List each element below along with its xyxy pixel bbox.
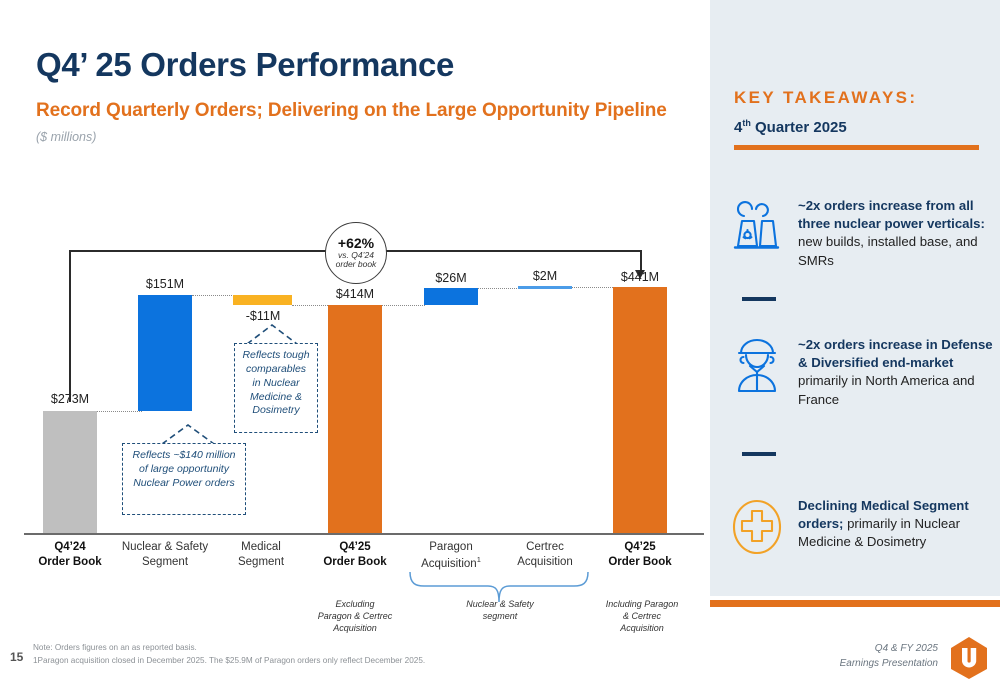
growth-arrow-vertical-left	[69, 250, 71, 402]
bar-paragon-acquisition[interactable]	[424, 288, 478, 305]
xaxis-label-5-line2: Acquisition	[498, 555, 592, 570]
footer-right-line-1: Q4 & FY 2025	[840, 641, 938, 656]
bar-certrec-acquisition[interactable]	[518, 286, 572, 289]
slide-root: Q4’ 25 Orders Performance Record Quarter…	[0, 0, 1000, 685]
xaxis-label-3: Q4’25 Order Book	[310, 540, 400, 570]
bar-q425-order-book-excluding[interactable]	[328, 305, 382, 533]
bar-label-q425-order-book-including: $441M	[603, 270, 677, 284]
key-takeaways-title: KEY TAKEAWAYS:	[734, 88, 918, 108]
xaxis-label-4-line1: Paragon	[404, 540, 498, 555]
bar-label-medical-segment: -$11M	[226, 309, 300, 323]
xaxis-label-6-line2: Order Book	[595, 555, 685, 570]
company-logo-icon	[948, 636, 990, 680]
bar-label-nuclear-safety-segment: $151M	[128, 277, 202, 291]
key-takeaways-rule	[734, 145, 979, 150]
key-takeaway-item-2: Declining Medical Segment orders; primar…	[726, 496, 1000, 558]
page-number: 15	[10, 650, 23, 664]
xaxis-sublabel-including: Including Paragon & Certrec Acquisition	[588, 598, 696, 634]
bar-q424-order-book[interactable]	[43, 411, 97, 533]
bar-medical-segment[interactable]	[233, 295, 292, 305]
key-takeaway-rest-1: primarily in North America and France	[798, 373, 975, 406]
xaxis-label-1-line1: Nuclear & Safety	[115, 540, 215, 555]
footer-presentation-label: Q4 & FY 2025 Earnings Presentation	[840, 641, 938, 671]
xaxis-label-4: Paragon Acquisition1	[404, 540, 498, 572]
key-takeaway-bold-0: ~2x orders increase from all three nucle…	[798, 198, 985, 231]
xaxis-label-4-line2: Acquisition	[421, 558, 477, 570]
connector-6	[572, 287, 613, 288]
xaxis-label-3-line2: Order Book	[310, 555, 400, 570]
connector-3	[292, 305, 328, 306]
footer-right-line-2: Earnings Presentation	[840, 656, 938, 671]
xaxis-label-6-line1: Q4’25	[595, 540, 685, 555]
waterfall-chart: +62% vs. Q4’24 order book $273M $151M -$…	[0, 0, 710, 685]
xaxis-label-2: Medical Segment	[218, 540, 304, 570]
xaxis-label-0: Q4’24 Order Book	[25, 540, 115, 570]
group-brace-label: Nuclear & Safety segment	[445, 598, 555, 622]
callout-medical-segment: Reflects tough comparables in Nuclear Me…	[234, 343, 318, 433]
xaxis-label-5: Certrec Acquisition	[498, 540, 592, 570]
group-brace-label-line1: Nuclear & Safety	[445, 598, 555, 610]
footnote-line-1: Note: Orders figures on an as reported b…	[33, 642, 425, 655]
xaxis-label-5-line1: Certrec	[498, 540, 592, 555]
key-takeaway-item-1: ~2x orders increase in Defense & Diversi…	[726, 335, 1000, 409]
connector-5	[478, 288, 519, 289]
growth-percent-badge: +62% vs. Q4’24 order book	[325, 222, 387, 284]
bar-label-paragon-acquisition: $26M	[414, 271, 488, 285]
xaxis-label-0-line2: Order Book	[25, 555, 115, 570]
xaxis-sublabel-excluding: Excluding Paragon & Certrec Acquisition	[300, 598, 410, 634]
key-takeaway-item-0: ~2x orders increase from all three nucle…	[726, 196, 1000, 270]
footnote-line-2: 1Paragon acquisition closed in December …	[33, 655, 425, 668]
key-takeaway-text-1: ~2x orders increase in Defense & Diversi…	[798, 335, 1000, 409]
growth-arrow-vertical-right	[640, 250, 642, 272]
connector-4	[382, 305, 425, 306]
worker-helmet-icon	[726, 335, 788, 397]
xaxis-label-1: Nuclear & Safety Segment	[115, 540, 215, 570]
group-brace-label-line2: segment	[445, 610, 555, 622]
xaxis-label-1-line2: Segment	[115, 555, 215, 570]
xaxis-label-0-line1: Q4’24	[25, 540, 115, 555]
bar-label-q425-order-book-excluding: $414M	[318, 287, 392, 301]
key-takeaway-text-0: ~2x orders increase from all three nucle…	[798, 196, 1000, 270]
chart-baseline	[24, 533, 704, 535]
xaxis-label-6: Q4’25 Order Book	[595, 540, 685, 570]
callout-nuclear-safety: Reflects ~$140 million of large opportun…	[122, 443, 246, 515]
kt-sub-post: Quarter 2025	[751, 119, 847, 136]
xaxis-label-4-footnote-marker: 1	[477, 555, 481, 564]
key-takeaway-rest-0: new builds, installed base, and SMRs	[798, 234, 978, 267]
key-takeaways-divider-0	[742, 297, 776, 301]
footnotes: Note: Orders figures on an as reported b…	[33, 642, 425, 667]
nuclear-plant-icon	[726, 196, 788, 258]
key-takeaway-bold-1: ~2x orders increase in Defense & Diversi…	[798, 337, 993, 370]
panel-bottom-accent-bar	[710, 600, 1000, 607]
growth-percent-sub2: order book	[336, 260, 377, 270]
xaxis-label-3-line1: Q4’25	[310, 540, 400, 555]
bar-nuclear-safety-segment[interactable]	[138, 295, 192, 411]
medical-cross-icon	[726, 496, 788, 558]
xaxis-label-2-line1: Medical	[218, 540, 304, 555]
key-takeaways-divider-1	[742, 452, 776, 456]
key-takeaways-panel: KEY TAKEAWAYS: 4th Quarter 2025	[710, 0, 1000, 596]
growth-percent-value: +62%	[338, 236, 374, 251]
bar-q425-order-book-including[interactable]	[613, 287, 667, 533]
key-takeaway-text-2: Declining Medical Segment orders; primar…	[798, 496, 1000, 558]
kt-sub-sup: th	[742, 118, 751, 128]
key-takeaways-subtitle: 4th Quarter 2025	[734, 118, 847, 136]
xaxis-label-2-line2: Segment	[218, 555, 304, 570]
connector-1	[97, 411, 142, 412]
connector-2	[192, 295, 236, 296]
bar-label-certrec-acquisition: $2M	[508, 269, 582, 283]
